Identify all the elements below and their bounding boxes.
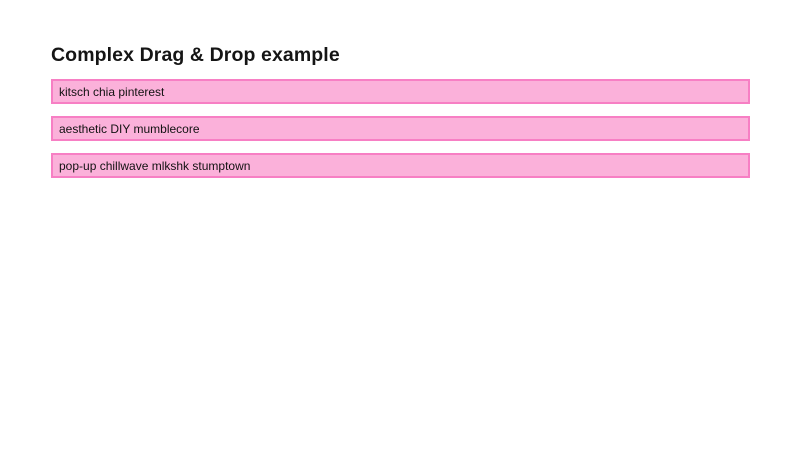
- page-title: Complex Drag & Drop example: [51, 44, 750, 66]
- drag-item-label: pop-up chillwave mlkshk stumptown: [59, 159, 250, 173]
- drag-item[interactable]: pop-up chillwave mlkshk stumptown: [51, 153, 750, 178]
- page-root: Complex Drag & Drop example kitsch chia …: [0, 0, 800, 450]
- drag-item[interactable]: aesthetic DIY mumblecore: [51, 116, 750, 141]
- drag-item-label: aesthetic DIY mumblecore: [59, 122, 200, 136]
- content-container: Complex Drag & Drop example kitsch chia …: [51, 44, 750, 178]
- drag-item-label: kitsch chia pinterest: [59, 85, 164, 99]
- drag-item[interactable]: kitsch chia pinterest: [51, 79, 750, 104]
- drag-drop-list: kitsch chia pinterest aesthetic DIY mumb…: [51, 79, 750, 178]
